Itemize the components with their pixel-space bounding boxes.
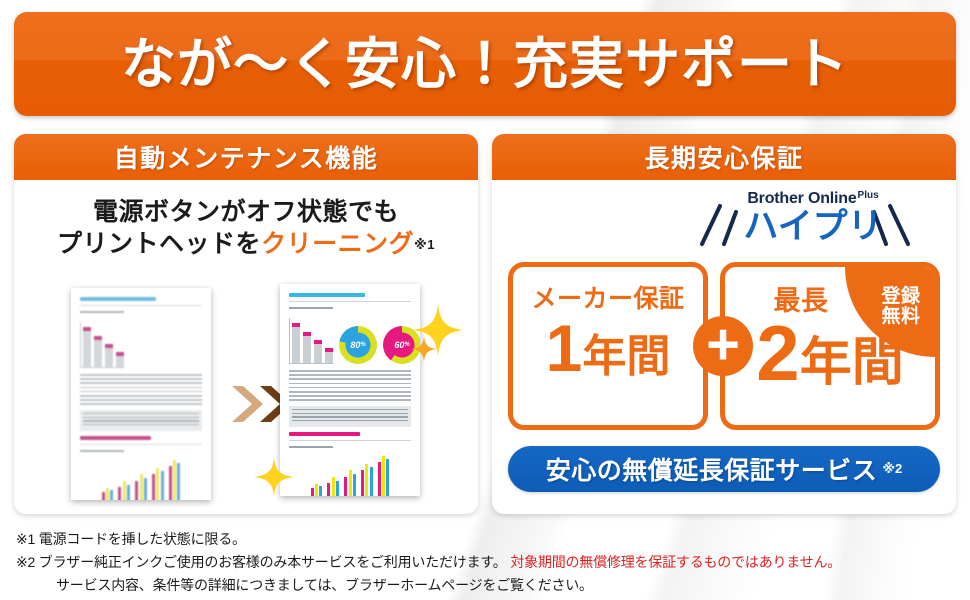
warranty-terms-row: メーカー保証 1年間 登録 無料 最長 2年間 + xyxy=(508,262,940,430)
bar xyxy=(365,464,368,496)
footnote-2-red: 対象期間の無償修理を保証するものではありません。 xyxy=(510,554,841,570)
footnotes: ※1 電源コードを挿した状態に限る。 ※2 ブラザー純正インクご使用のお客様のみ… xyxy=(16,528,956,597)
bar-group xyxy=(361,464,373,496)
maintenance-headline-line2: プリントヘッドをクリーニング※1 xyxy=(14,228,478,260)
bar xyxy=(319,486,322,496)
bar xyxy=(144,478,147,500)
doc-paragraph xyxy=(80,374,202,405)
doc-hairline-2 xyxy=(289,440,411,441)
bar-group xyxy=(311,484,323,496)
doc-callout xyxy=(80,410,202,431)
doc-callout xyxy=(289,406,411,427)
document-before-content: 80% 60% xyxy=(80,297,202,500)
maintenance-card: 自動メンテナンス機能 電源ボタンがオフ状態でも プリントヘッドをクリーニング※1 xyxy=(14,134,478,514)
doc-hairline xyxy=(289,301,411,302)
footnote-2-continued: サービス内容、条件等の詳細につきましては、ブラザーホームページをご覧ください。 xyxy=(16,574,956,597)
main-banner-title: なが～く安心！充実サポート xyxy=(121,37,849,92)
mini-bar xyxy=(94,336,102,367)
mini-bar xyxy=(314,340,322,363)
maintenance-headline: 電源ボタンがオフ状態でも プリントヘッドをクリーニング※1 xyxy=(14,180,478,260)
document-after-content: 80% 60% xyxy=(289,293,411,496)
bar xyxy=(336,481,339,496)
donut-value: 80 xyxy=(350,340,360,350)
print-quality-comparison: 80% 60% xyxy=(14,284,478,514)
bar xyxy=(152,474,155,500)
maintenance-headline-highlight: クリーニング xyxy=(261,230,414,258)
mini-bar xyxy=(303,332,311,363)
haipuri-logo: Brother OnlinePlus ハイプリ xyxy=(688,190,938,252)
doc-chart-row: 80% 60% xyxy=(289,314,411,364)
warranty-card: 長期安心保証 Brother OnlinePlus ハイプリ xyxy=(492,134,956,514)
doc-bar-chart xyxy=(289,453,411,496)
maintenance-card-title: 自動メンテナンス機能 xyxy=(114,139,379,175)
doc-donut-magenta: 60% xyxy=(174,330,211,368)
doc-chart-row: 80% 60% xyxy=(80,318,202,368)
bar xyxy=(140,474,143,500)
bar xyxy=(382,456,385,496)
doc-mini-bar-chart xyxy=(289,318,333,364)
mini-bar xyxy=(325,348,333,363)
doc-heading-rule-2 xyxy=(80,436,151,440)
bar-group xyxy=(118,481,130,500)
document-sample-after: 80% 60% xyxy=(280,284,420,496)
bar xyxy=(378,462,381,496)
maker-term-number: 1 xyxy=(546,311,583,385)
bar-group xyxy=(378,456,390,496)
mini-bar xyxy=(292,323,300,363)
maintenance-footnote-mark: ※1 xyxy=(414,237,435,252)
doc-bar-chart xyxy=(80,457,202,500)
free-registration-text: 登録 無料 xyxy=(881,287,920,327)
document-sample-before: 80% 60% xyxy=(71,288,211,500)
bar-group xyxy=(169,460,181,500)
bar xyxy=(344,477,347,496)
bar-group xyxy=(327,477,339,496)
extended-warranty-footnote-mark: ※2 xyxy=(882,461,902,477)
doc-subheading xyxy=(80,311,124,313)
donut-unit: % xyxy=(195,346,200,352)
maintenance-card-body: 電源ボタンがオフ状態でも プリントヘッドをクリーニング※1 xyxy=(14,180,478,514)
bar xyxy=(169,466,172,500)
extended-warranty-service-button[interactable]: 安心の無償延長保証サービス ※2 xyxy=(508,446,940,492)
bar xyxy=(332,477,335,496)
warranty-card-body: Brother OnlinePlus ハイプリ メーカー保証 1年間 登録 無料 xyxy=(492,180,956,514)
mini-bar xyxy=(105,344,113,367)
bar xyxy=(110,490,113,500)
mini-bar xyxy=(116,352,124,367)
donut-value: 60 xyxy=(394,340,404,350)
extended-warranty-box: 登録 無料 最長 2年間 xyxy=(720,262,940,430)
bar xyxy=(173,460,176,500)
footnote-2-black: ※2 ブラザー純正インクご使用のお客様のみ本サービスをご利用いただけます。 xyxy=(16,554,507,570)
doc-heading-rule xyxy=(289,293,365,297)
warranty-card-title: 長期安心保証 xyxy=(644,139,803,175)
donut-value: 60 xyxy=(185,344,195,354)
bar xyxy=(106,488,109,500)
bar xyxy=(361,470,364,496)
maintenance-headline-line1: 電源ボタンがオフ状態でも xyxy=(14,196,478,228)
bar xyxy=(353,474,356,496)
bar-group xyxy=(344,470,356,496)
bar-group xyxy=(135,474,147,500)
donut-unit: % xyxy=(360,342,365,348)
donut-unit: % xyxy=(151,346,156,352)
bar xyxy=(327,483,330,496)
maintenance-headline-prefix: プリントヘッドを xyxy=(57,230,261,258)
bar xyxy=(386,459,389,496)
maintenance-card-header: 自動メンテナンス機能 xyxy=(14,134,478,180)
bar-group xyxy=(152,468,164,500)
plus-icon: + xyxy=(693,316,753,376)
sparkle-icon xyxy=(404,302,466,369)
maker-warranty-label: メーカー保証 xyxy=(513,279,703,315)
doc-subheading-2 xyxy=(80,450,124,452)
donut-value: 80 xyxy=(141,344,151,354)
bar xyxy=(177,463,180,500)
footnote-2: ※2 ブラザー純正インクご使用のお客様のみ本サービスをご利用いただけます。 対象… xyxy=(16,551,956,574)
badge-line-2: 無料 xyxy=(881,307,920,327)
bar xyxy=(315,484,318,496)
extended-term-number: 2 xyxy=(756,309,799,397)
bar xyxy=(123,481,126,500)
bar xyxy=(102,492,105,500)
bar xyxy=(370,467,373,496)
doc-hairline xyxy=(80,305,202,306)
sparkle-icon xyxy=(252,456,296,505)
bar-group xyxy=(102,488,114,500)
badge-line-1: 登録 xyxy=(881,287,920,307)
main-banner: なが～く安心！充実サポート xyxy=(14,12,956,116)
extended-warranty-service-label: 安心の無償延長保証サービス xyxy=(546,451,878,487)
bar xyxy=(127,485,130,500)
doc-paragraph xyxy=(289,370,411,401)
doc-subheading xyxy=(289,307,333,309)
maker-warranty-term: 1年間 xyxy=(513,317,703,380)
footnote-1: ※1 電源コードを挿した状態に限る。 xyxy=(16,528,956,551)
doc-mini-bar-chart xyxy=(80,322,124,368)
mini-bar xyxy=(83,327,91,367)
doc-donut-cyan: 80% xyxy=(339,326,377,364)
doc-subheading-2 xyxy=(289,446,333,448)
promo-banner-page: なが～く安心！充実サポート 自動メンテナンス機能 電源ボタンがオフ状態でも プリ… xyxy=(0,0,970,600)
doc-heading-rule-2 xyxy=(289,432,360,436)
maker-term-unit: 年間 xyxy=(582,332,670,381)
doc-donut-cyan: 80% xyxy=(130,330,168,368)
bar xyxy=(349,470,352,496)
doc-heading-rule xyxy=(80,297,156,301)
warranty-card-header: 長期安心保証 xyxy=(492,134,956,180)
bar xyxy=(118,487,121,500)
bar xyxy=(161,471,164,500)
bar xyxy=(311,488,314,496)
doc-hairline-2 xyxy=(80,444,202,445)
bar xyxy=(156,468,159,500)
bar xyxy=(135,481,138,500)
maker-warranty-box: メーカー保証 1年間 xyxy=(508,262,708,430)
